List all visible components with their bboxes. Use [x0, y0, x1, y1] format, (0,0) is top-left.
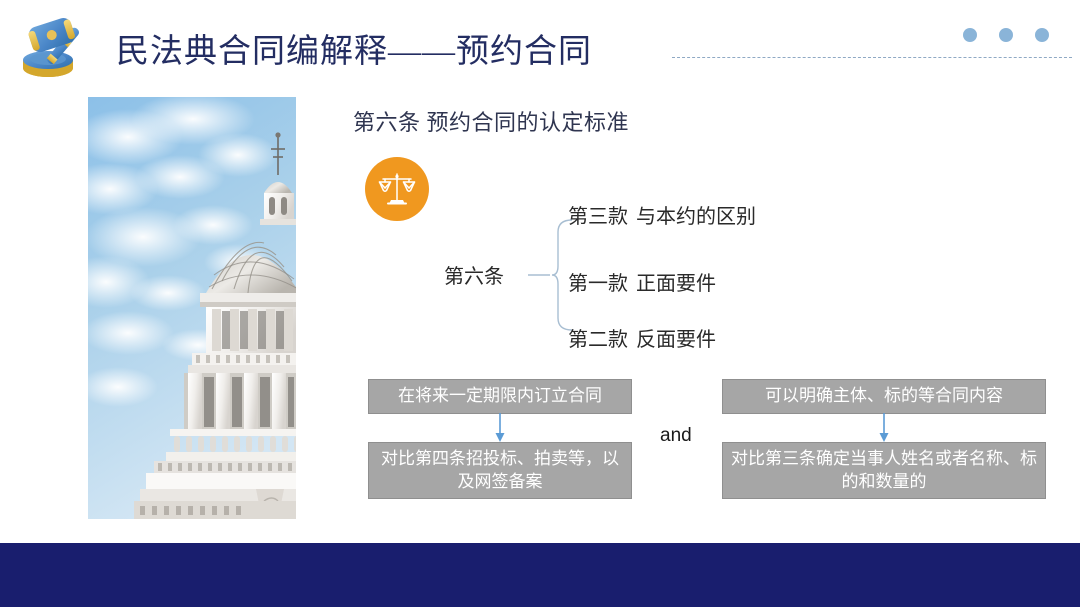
header-divider-dashed-line [672, 57, 1072, 58]
slide-canvas: 民法典合同编解释——预约合同 [0, 0, 1080, 607]
tree-branch-text: 与本约的区别 [636, 206, 756, 228]
flow-box-right-top: 可以明确主体、标的等合同内容 [722, 379, 1046, 414]
flow-box-left-top: 在将来一定期限内订立合同 [368, 379, 632, 414]
header-dot-1 [963, 28, 977, 42]
flow-box-left-bottom: 对比第四条招投标、拍卖等，以及网签备案 [368, 442, 632, 499]
tree-branch-item: 第二款反面要件 [568, 323, 716, 352]
tree-root-label: 第六条 [444, 260, 504, 289]
tree-branch-number: 第一款 [568, 273, 628, 295]
flow-arrow-right [877, 413, 891, 443]
page-title: 民法典合同编解释——预约合同 [116, 24, 592, 72]
footer-bar [0, 543, 1080, 607]
section-heading: 第六条 预约合同的认定标准 [353, 105, 629, 137]
article-tree-diagram: 第六条 第一款正面要件 第二款反面要件 第三款与本约的区别 [440, 200, 840, 350]
tree-branch-number: 第三款 [568, 206, 628, 228]
header-dot-3 [1035, 28, 1049, 42]
tree-branch-number: 第二款 [568, 329, 628, 351]
tree-branch-text: 反面要件 [636, 329, 716, 351]
courthouse-photo [88, 97, 296, 519]
header-dot-2 [999, 28, 1013, 42]
tree-branch-item: 第一款正面要件 [568, 267, 716, 296]
scales-of-justice-icon [365, 157, 429, 221]
header-dots-decoration [963, 28, 1053, 44]
conjunction-label: and [660, 425, 692, 447]
gavel-icon [12, 12, 98, 86]
tree-branch-item: 第三款与本约的区别 [568, 200, 756, 229]
flow-arrow-left [493, 413, 507, 443]
flow-box-right-bottom: 对比第三条确定当事人姓名或者名称、标的和数量的 [722, 442, 1046, 499]
tree-branch-text: 正面要件 [636, 273, 716, 295]
